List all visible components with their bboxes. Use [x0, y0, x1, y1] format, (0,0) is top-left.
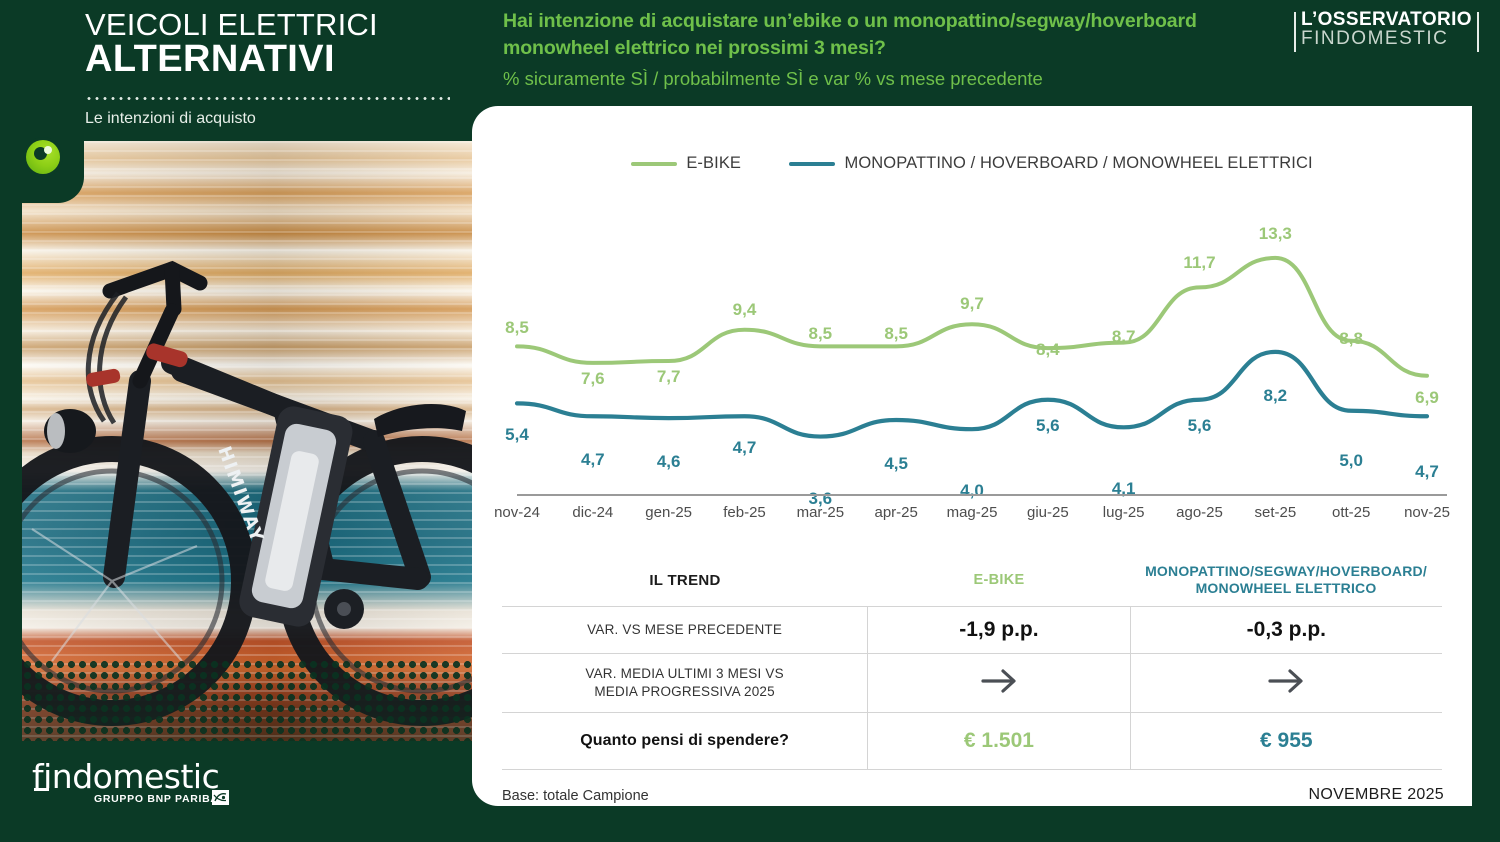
data-label: 4,7: [733, 438, 757, 458]
bicycle-illustration: HIMIWAY: [22, 141, 479, 741]
data-label: 4,6: [657, 452, 681, 472]
data-label: 4,5: [884, 454, 908, 474]
logo-underline: [34, 788, 49, 791]
findomestic-logo: findomestic GRUPPO BNP PARIBAS: [32, 760, 262, 816]
row-value-text: -0,3 p.p.: [1247, 618, 1326, 642]
x-axis-tick: dic-24: [572, 504, 613, 521]
data-label: 6,9: [1415, 388, 1439, 408]
row-label-spend: Quanto pensi di spendere?: [502, 713, 867, 769]
green-circle-badge-icon: [26, 140, 60, 174]
data-label: 9,4: [733, 300, 757, 320]
data-label: 8,8: [1339, 329, 1363, 349]
data-label: 5,6: [1036, 416, 1060, 436]
x-axis-tick: nov-24: [494, 504, 540, 521]
ebike-photo: HIMIWAY: [22, 141, 479, 741]
data-label: 5,0: [1339, 451, 1363, 471]
x-axis-tick: mar-25: [797, 504, 845, 521]
table-header-row: IL TREND E-BIKE MONOPATTINO/SEGWAY/HOVER…: [502, 554, 1442, 606]
x-axis-tick: ott-25: [1332, 504, 1370, 521]
x-axis-tick: gen-25: [645, 504, 692, 521]
table-header-trend-label: IL TREND: [649, 572, 720, 589]
data-label: 4,7: [581, 450, 605, 470]
row-value-scooter-avg3m: [1130, 654, 1442, 712]
row-value-scooter-var-prev: -0,3 p.p.: [1130, 607, 1442, 653]
legend-swatch-ebike: [631, 162, 677, 166]
x-axis-labels: nov-24dic-24gen-25feb-25mar-25apr-25mag-…: [492, 504, 1452, 528]
logo-tagline: GRUPPO BNP PARIBAS: [94, 793, 226, 805]
row-value-scooter-spend: € 955: [1130, 713, 1442, 769]
data-label: 4,0: [960, 481, 984, 501]
observatory-bar-left: [1294, 12, 1296, 52]
row-label-var-avg3m: VAR. MEDIA ULTIMI 3 MESI VS MEDIA PROGRE…: [502, 654, 867, 712]
x-axis-tick: set-25: [1254, 504, 1296, 521]
row-label-text: VAR. VS MESE PRECEDENTE: [587, 621, 782, 639]
base-note: Base: totale Campione: [502, 788, 649, 804]
infographic-root: VEICOLI ELETTRICI ALTERNATIVI Le intenzi…: [0, 0, 1500, 842]
row-value-ebike-avg3m: [867, 654, 1129, 712]
page-subtitle: Le intenzioni di acquisto: [85, 110, 256, 128]
data-label: 11,7: [1183, 253, 1215, 273]
row-label-text: VAR. MEDIA ULTIMI 3 MESI VS MEDIA PROGRE…: [585, 665, 783, 700]
question-subtitle: % sicuramente SÌ / probabilmente SÌ e va…: [503, 67, 1293, 91]
row-value-text: € 955: [1260, 729, 1313, 753]
table-header-ebike-label: E-BIKE: [974, 572, 1025, 588]
x-axis-tick: ago-25: [1176, 504, 1223, 521]
data-label: 13,3: [1259, 224, 1292, 244]
dot-pattern-overlay: [22, 659, 479, 741]
data-label: 4,1: [1112, 479, 1136, 499]
table-header-scooter-line1: MONOPATTINO/SEGWAY/HOVERBOARD/: [1145, 563, 1427, 579]
x-axis-tick: lug-25: [1103, 504, 1145, 521]
row-value-text: € 1.501: [964, 729, 1034, 753]
left-panel: VEICOLI ELETTRICI ALTERNATIVI Le intenzi…: [0, 0, 480, 842]
data-label: 5,4: [505, 425, 529, 445]
x-axis-tick: feb-25: [723, 504, 766, 521]
data-label: 7,6: [581, 369, 605, 389]
data-label: 8,5: [884, 324, 908, 344]
table-header-scooter-label: MONOPATTINO/SEGWAY/HOVERBOARD/ MONOWHEEL…: [1145, 563, 1427, 598]
table-header-scooter-line2: MONOWHEEL ELETTRICO: [1196, 580, 1377, 596]
row-value-ebike-var-prev: -1,9 p.p.: [867, 607, 1129, 653]
dotted-divider: [85, 97, 450, 100]
row-label-line1: VAR. MEDIA ULTIMI 3 MESI VS: [585, 666, 783, 681]
data-label: 8,7: [1112, 327, 1136, 347]
data-label: 8,4: [1036, 340, 1060, 360]
legend-item-ebike: E-BIKE: [631, 154, 741, 173]
data-label: 7,7: [657, 367, 681, 387]
data-label: 4,7: [1415, 462, 1439, 482]
row-label-var-prev-month: VAR. VS MESE PRECEDENTE: [502, 607, 867, 653]
x-axis-line: [517, 494, 1447, 496]
question-title: Hai intenzione di acquistare un’ebike o …: [503, 8, 1273, 62]
period-label: NOVEMBRE 2025: [1308, 786, 1444, 804]
chart-legend: E-BIKE MONOPATTINO / HOVERBOARD / MONOWH…: [472, 154, 1472, 173]
table-header-trend: IL TREND: [502, 554, 868, 606]
arrow-right-icon: [1265, 666, 1307, 701]
table-row: VAR. VS MESE PRECEDENTE -1,9 p.p. -0,3 p…: [502, 606, 1442, 654]
table-header-ebike: E-BIKE: [868, 554, 1130, 606]
data-label: 8,5: [505, 318, 529, 338]
series-line-scooter: [517, 352, 1427, 437]
data-label: 5,6: [1188, 416, 1212, 436]
x-axis-tick: apr-25: [874, 504, 917, 521]
chart-svg: [492, 216, 1452, 506]
x-axis-tick: giu-25: [1027, 504, 1069, 521]
arrow-right-icon: [978, 666, 1020, 701]
observatory-line-2: FINDOMESTIC: [1301, 29, 1472, 48]
x-axis-tick: nov-25: [1404, 504, 1450, 521]
data-label: 8,2: [1264, 386, 1288, 406]
logo-wordmark: findomestic: [32, 760, 262, 793]
legend-label-ebike: E-BIKE: [686, 154, 741, 173]
table-header-scooter: MONOPATTINO/SEGWAY/HOVERBOARD/ MONOWHEEL…: [1130, 554, 1442, 606]
row-label-line2: MEDIA PROGRESSIVA 2025: [594, 684, 774, 699]
data-label: 9,7: [960, 294, 984, 314]
row-value-text: -1,9 p.p.: [959, 618, 1038, 642]
row-value-ebike-spend: € 1.501: [867, 713, 1129, 769]
legend-swatch-scooter: [789, 162, 835, 166]
trend-table: IL TREND E-BIKE MONOPATTINO/SEGWAY/HOVER…: [502, 554, 1442, 770]
observatory-logo: L’OSSERVATORIO FINDOMESTIC: [1301, 10, 1472, 48]
page-kicker: VEICOLI ELETTRICI: [85, 8, 378, 41]
data-label: 8,5: [809, 324, 833, 344]
table-row: VAR. MEDIA ULTIMI 3 MESI VS MEDIA PROGRE…: [502, 654, 1442, 713]
observatory-line-1: L’OSSERVATORIO: [1301, 10, 1472, 29]
content-card: E-BIKE MONOPATTINO / HOVERBOARD / MONOWH…: [472, 106, 1472, 806]
bnp-paribas-mark-icon: [212, 790, 229, 805]
page-title: ALTERNATIVI: [85, 40, 335, 80]
trend-line-chart: [492, 216, 1452, 506]
x-axis-tick: mag-25: [947, 504, 998, 521]
table-row: Quanto pensi di spendere? € 1.501 € 955: [502, 713, 1442, 770]
observatory-bar-right: [1477, 12, 1479, 52]
row-label-text: Quanto pensi di spendere?: [580, 732, 789, 750]
legend-label-scooter: MONOPATTINO / HOVERBOARD / MONOWHEEL ELE…: [844, 154, 1312, 173]
legend-item-scooter: MONOPATTINO / HOVERBOARD / MONOWHEEL ELE…: [789, 154, 1312, 173]
